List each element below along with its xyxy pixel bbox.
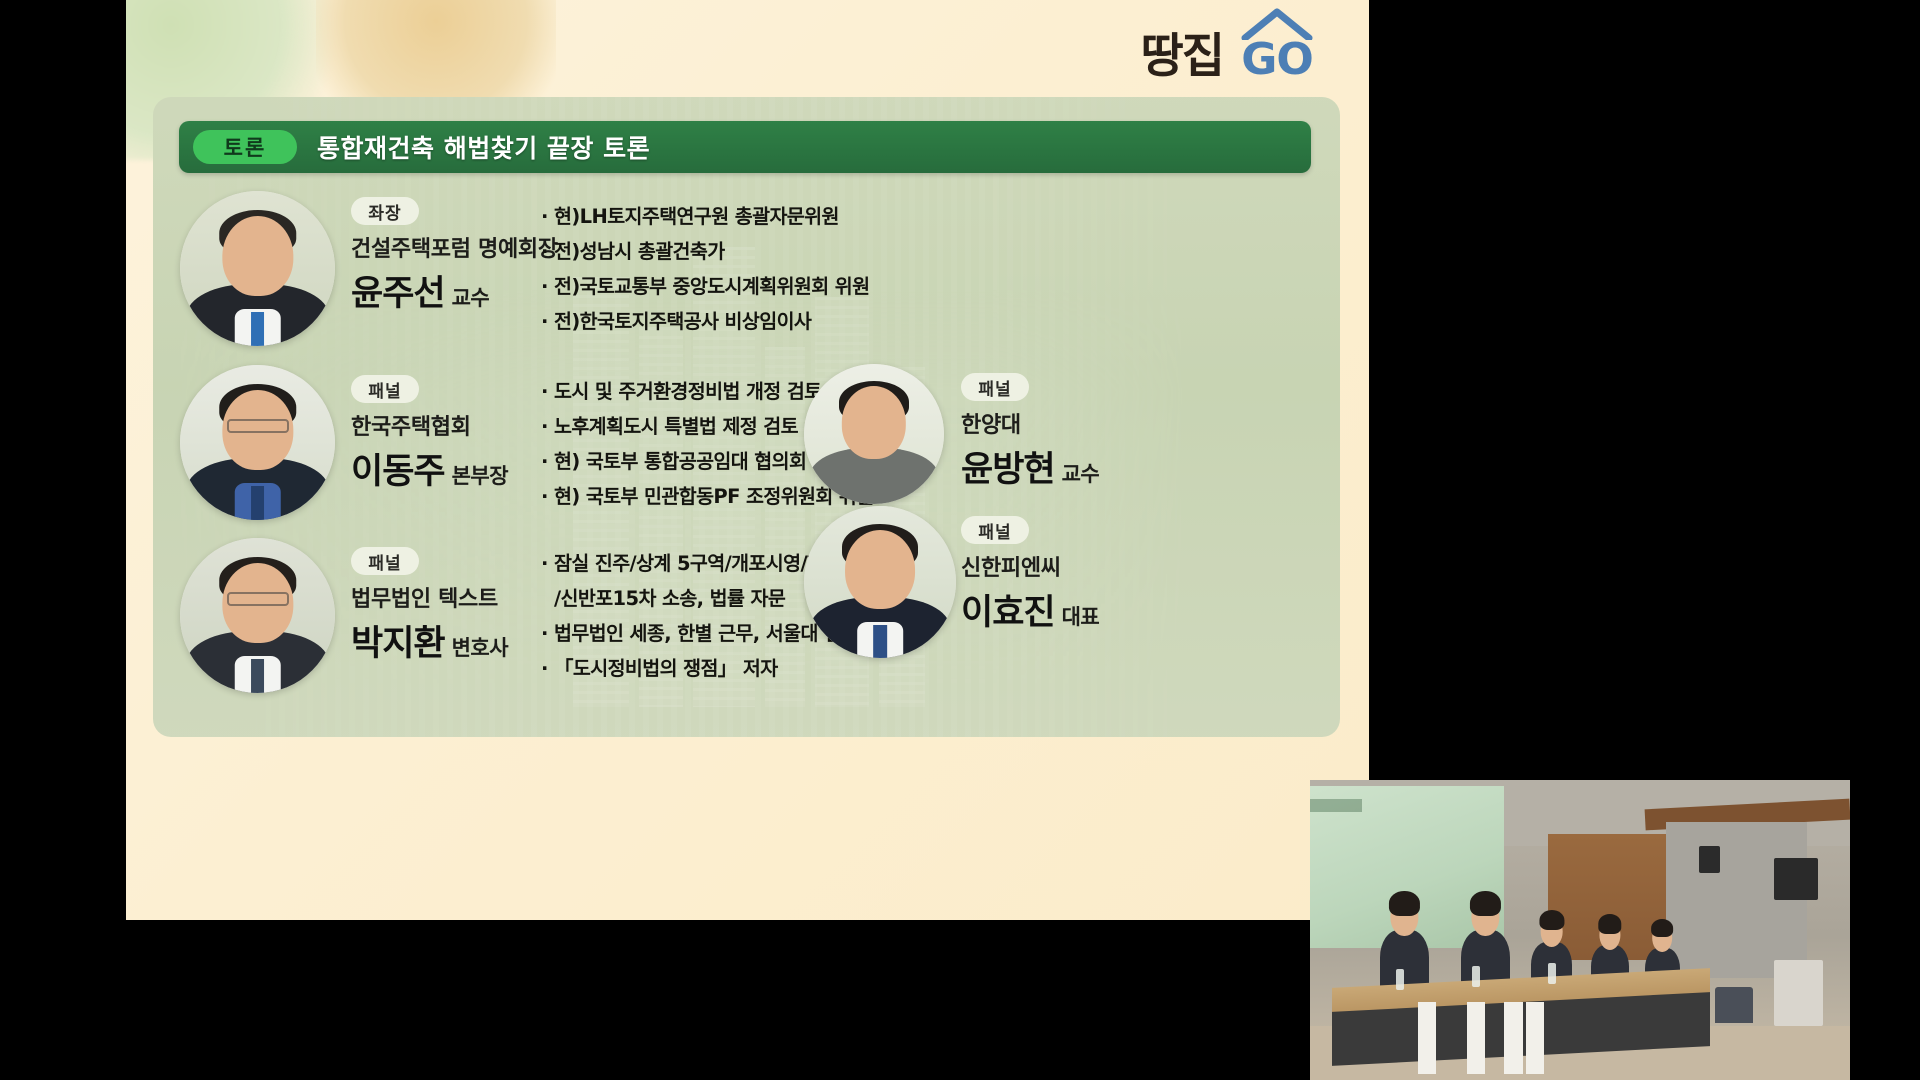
name-yoon-banghyeon: 윤방현 — [961, 450, 1055, 490]
bullet-text: 전)국토교통부 중앙도시계획위원회 위원 — [554, 275, 869, 298]
title-lee-hyojin: 대표 — [1062, 605, 1100, 629]
logo-go-block: GO — [1231, 6, 1323, 80]
avatar-yoon-jooseon — [180, 191, 335, 346]
info-park-jihwan: 패널 법무법인 텍스트 박지환변호사 — [351, 547, 508, 666]
projected-slide-content — [1310, 799, 1362, 812]
slide-title-bar: 토론 통합재건축 해법찾기 끝장 토론 — [179, 121, 1311, 173]
avatar-lee-hyojin — [804, 506, 956, 658]
avatar-park-jihwan — [180, 538, 335, 693]
bullet-text: 전)성남시 총괄건축가 — [554, 240, 725, 263]
avatar-yoon-banghyeon — [804, 364, 944, 504]
slide-title-text: 통합재건축 해법찾기 끝장 토론 — [317, 129, 650, 165]
logo-go-text: GO — [1231, 38, 1323, 82]
slide-title-badge: 토론 — [193, 130, 297, 164]
role-badge-chair: 좌장 — [351, 197, 419, 225]
water-bottle — [1548, 963, 1556, 984]
name-line-lee-dongju: 이동주본부장 — [351, 443, 508, 494]
org-yoon-jooseon: 건설주택포럼 명예회장 — [351, 231, 558, 263]
bullet-item: ·「도시정비법의 쟁점」 저자 — [541, 657, 889, 680]
name-yoon-jooseon: 윤주선 — [351, 274, 445, 314]
speaker-panel-card: 토론 통합재건축 해법찾기 끝장 토론 좌장 건설주택포럼 명예회장 — [153, 97, 1340, 737]
info-yoon-jooseon: 좌장 건설주택포럼 명예회장 윤주선교수 — [351, 197, 558, 316]
brand-logo: 땅집 GO — [1141, 6, 1323, 80]
table-banner — [1526, 1002, 1544, 1074]
bullet-text: 도시 및 주거환경정비법 개정 검토 — [554, 380, 822, 403]
speaker-icon — [1699, 846, 1721, 873]
table-banner — [1467, 1002, 1485, 1074]
org-yoon-banghyeon: 한양대 — [961, 407, 1099, 439]
info-lee-hyojin: 패널 신한피엔씨 이효진대표 — [961, 516, 1099, 635]
org-park-jihwan: 법무법인 텍스트 — [351, 581, 508, 613]
role-badge-panel: 패널 — [351, 547, 419, 575]
info-yoon-banghyeon: 패널 한양대 윤방현교수 — [961, 373, 1099, 492]
table-banner — [1418, 1002, 1436, 1074]
bullet-text: /신반포15차 소송, 법률 자문 — [554, 587, 785, 610]
water-bottle — [1396, 969, 1404, 990]
bullet-text: 「도시정비법의 쟁점」 저자 — [554, 657, 778, 680]
org-lee-hyojin: 신한피엔씨 — [961, 550, 1099, 582]
bullet-item: ·전)성남시 총괄건축가 — [541, 240, 869, 263]
title-yoon-banghyeon: 교수 — [1062, 462, 1100, 486]
bullet-text: 전)한국토지주택공사 비상임이사 — [554, 310, 811, 333]
avatar-lee-dongju — [180, 365, 335, 520]
name-line-lee-hyojin: 이효진대표 — [961, 584, 1099, 635]
live-seminar-video[interactable] — [1310, 780, 1850, 1080]
name-lee-hyojin: 이효진 — [961, 593, 1055, 633]
bullet-item: ·현)LH토지주택연구원 총괄자문위원 — [541, 205, 869, 228]
bullet-item: ·전)국토교통부 중앙도시계획위원회 위원 — [541, 275, 869, 298]
podium — [1774, 960, 1823, 1026]
logo-wordmark: 땅집 — [1141, 33, 1223, 80]
screen-root: 땅집 GO 토론 통합재건축 해법찾기 끝장 토론 — [0, 0, 1920, 1080]
name-line-yoon-jooseon: 윤주선교수 — [351, 265, 558, 316]
title-park-jihwan: 변호사 — [452, 636, 508, 660]
wall-monitor-icon — [1774, 858, 1817, 900]
org-lee-dongju: 한국주택협회 — [351, 409, 508, 441]
slide-frame: 땅집 GO 토론 통합재건축 해법찾기 끝장 토론 — [126, 0, 1369, 920]
name-lee-dongju: 이동주 — [351, 452, 445, 492]
name-park-jihwan: 박지환 — [351, 624, 445, 664]
table-banner — [1504, 1002, 1522, 1074]
name-line-yoon-banghyeon: 윤방현교수 — [961, 441, 1099, 492]
water-bottle — [1472, 966, 1480, 987]
info-lee-dongju: 패널 한국주택협회 이동주본부장 — [351, 375, 508, 494]
name-line-park-jihwan: 박지환변호사 — [351, 615, 508, 666]
role-badge-panel: 패널 — [961, 373, 1029, 401]
bullets-yoon-jooseon: ·현)LH토지주택연구원 총괄자문위원 ·전)성남시 총괄건축가 ·전)국토교통… — [541, 205, 869, 345]
bullet-text: 현)LH토지주택연구원 총괄자문위원 — [554, 205, 839, 228]
title-lee-dongju: 본부장 — [452, 464, 508, 488]
title-yoon-jooseon: 교수 — [452, 286, 490, 310]
bullet-item: ·전)한국토지주택공사 비상임이사 — [541, 310, 869, 333]
role-badge-panel: 패널 — [961, 516, 1029, 544]
back-wall — [1666, 822, 1806, 978]
bullet-text: 노후계획도시 특별법 제정 검토 — [554, 415, 798, 438]
empty-chair — [1715, 987, 1753, 1023]
role-badge-panel: 패널 — [351, 375, 419, 403]
